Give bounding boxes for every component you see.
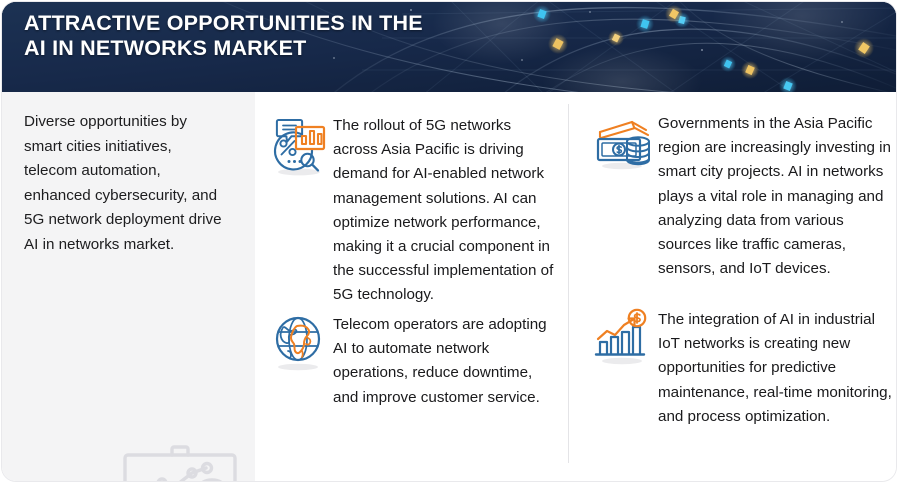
block-text: Governments in the Asia Pacific region a… [658,108,896,281]
page-title: ATTRACTIVE OPPORTUNITIES IN THE AI IN NE… [24,11,423,61]
infographic-root: ATTRACTIVE OPPORTUNITIES IN THE AI IN NE… [0,0,900,484]
infographic-card: ATTRACTIVE OPPORTUNITIES IN THE AI IN NE… [2,2,896,481]
analytics-percent-search-icon [263,110,333,180]
block-5g-rollout: The rollout of 5G networks across Asia P… [263,110,563,308]
growth-bar-chart-dollar-icon [588,302,658,372]
block-industrial-iot: The integration of AI in industrial IoT … [588,302,896,429]
content-columns: The rollout of 5G networks across Asia P… [255,92,896,481]
header-banner: ATTRACTIVE OPPORTUNITIES IN THE AI IN NE… [2,2,896,92]
block-text: The integration of AI in industrial IoT … [658,302,896,429]
column-right: Governments in the Asia Pacific region a… [568,92,896,481]
block-telecom-operators: Telecom operators are adopting AI to aut… [263,307,563,410]
column-divider [568,104,569,463]
block-text: The rollout of 5G networks across Asia P… [333,110,558,308]
column-middle: The rollout of 5G networks across Asia P… [255,92,568,481]
cash-coins-icon [588,108,658,178]
intro-text: Diverse opportunities by smart cities in… [24,110,229,257]
body-area: Diverse opportunities by smart cities in… [2,92,896,481]
block-government-investment: Governments in the Asia Pacific region a… [588,108,896,281]
globe-icon [263,307,333,377]
presentation-chart-search-icon [114,437,246,481]
intro-panel: Diverse opportunities by smart cities in… [2,92,255,481]
block-text: Telecom operators are adopting AI to aut… [333,307,558,410]
